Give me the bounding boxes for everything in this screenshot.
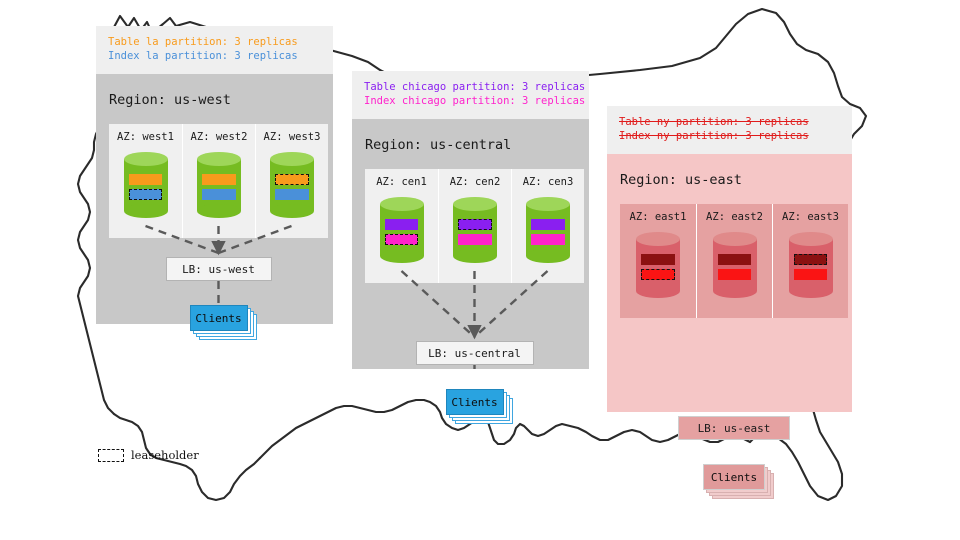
index-replica-bar bbox=[794, 269, 827, 280]
partition-banner-us-west: Table la partition: 3 replicasIndex la p… bbox=[96, 26, 333, 74]
cylinder-top bbox=[526, 197, 570, 211]
region-panel-us-west: Table la partition: 3 replicasIndex la p… bbox=[96, 26, 333, 324]
clients-stack-us-east[interactable]: Clients bbox=[703, 464, 775, 498]
cylinder-bottom bbox=[270, 204, 314, 218]
cylinder-bottom bbox=[789, 284, 833, 298]
az-cell-east3: AZ: east3 bbox=[772, 204, 848, 318]
cylinder-bottom bbox=[526, 249, 570, 263]
index-replica-bar bbox=[531, 234, 564, 245]
az-label: AZ: cen3 bbox=[523, 176, 574, 188]
partition-banner-us-central: Table chicago partition: 3 replicasIndex… bbox=[352, 71, 589, 119]
load-balancer-us-west[interactable]: LB: us-west bbox=[166, 257, 272, 281]
region-title-us-central: Region: us-central bbox=[365, 137, 511, 153]
dashed-rectangle-icon bbox=[98, 449, 124, 462]
cylinder-bottom bbox=[453, 249, 497, 263]
az-label: AZ: cen1 bbox=[376, 176, 427, 188]
index-replica-bar-leaseholder bbox=[385, 234, 418, 245]
database-cylinder-icon bbox=[713, 232, 757, 298]
cylinder-bottom bbox=[197, 204, 241, 218]
database-cylinder-icon bbox=[124, 152, 168, 218]
clients-stack-us-west[interactable]: Clients bbox=[190, 305, 258, 339]
az-label: AZ: east1 bbox=[630, 211, 687, 223]
diagram-canvas: Table la partition: 3 replicasIndex la p… bbox=[0, 0, 960, 540]
region-title-us-east: Region: us-east bbox=[620, 172, 742, 188]
table-replica-bar bbox=[718, 254, 751, 265]
database-cylinder-icon bbox=[526, 197, 570, 263]
cylinder-bottom bbox=[713, 284, 757, 298]
database-cylinder-icon bbox=[380, 197, 424, 263]
cylinder-top bbox=[636, 232, 680, 246]
table-replica-bar bbox=[129, 174, 162, 185]
region-panel-us-central: Table chicago partition: 3 replicasIndex… bbox=[352, 71, 589, 369]
az-cell-cen2: AZ: cen2 bbox=[438, 169, 511, 283]
az-strip-us-west: AZ: west1AZ: west2AZ: west3 bbox=[109, 124, 328, 238]
table-replica-bar bbox=[385, 219, 418, 230]
index-replica-bar-leaseholder bbox=[129, 189, 162, 200]
az-cell-east1: AZ: east1 bbox=[620, 204, 696, 318]
az-label: AZ: west1 bbox=[117, 131, 174, 143]
cylinder-bottom bbox=[380, 249, 424, 263]
cylinder-top bbox=[124, 152, 168, 166]
az-cell-west3: AZ: west3 bbox=[255, 124, 328, 238]
index-replica-bar bbox=[275, 189, 308, 200]
table-replica-bar-leaseholder bbox=[275, 174, 308, 185]
region-panel-us-east: Table ny partition: 3 replicasIndex ny p… bbox=[607, 106, 852, 412]
database-cylinder-icon bbox=[197, 152, 241, 218]
database-cylinder-icon bbox=[636, 232, 680, 298]
legend-label: leaseholder bbox=[131, 448, 199, 462]
clients-box-us-west[interactable]: Clients bbox=[190, 305, 248, 331]
table-replica-bar bbox=[531, 219, 564, 230]
az-label: AZ: cen2 bbox=[450, 176, 501, 188]
database-cylinder-icon bbox=[270, 152, 314, 218]
index-replica-bar-leaseholder bbox=[641, 269, 674, 280]
table-replica-bar-leaseholder bbox=[794, 254, 827, 265]
clients-stack-us-central[interactable]: Clients bbox=[446, 389, 514, 423]
partition-banner-us-east: Table ny partition: 3 replicasIndex ny p… bbox=[607, 106, 852, 154]
index-replica-bar bbox=[202, 189, 235, 200]
az-cell-west1: AZ: west1 bbox=[109, 124, 182, 238]
region-title-us-west: Region: us-west bbox=[109, 92, 231, 108]
az-label: AZ: west3 bbox=[264, 131, 321, 143]
az-label: AZ: west2 bbox=[191, 131, 248, 143]
clients-box-us-central[interactable]: Clients bbox=[446, 389, 504, 415]
table-replica-bar-leaseholder bbox=[458, 219, 491, 230]
az-strip-us-east: AZ: east1AZ: east2AZ: east3 bbox=[620, 204, 848, 318]
legend: leaseholder bbox=[98, 448, 199, 462]
cylinder-top bbox=[380, 197, 424, 211]
az-cell-cen1: AZ: cen1 bbox=[365, 169, 438, 283]
az-strip-us-central: AZ: cen1AZ: cen2AZ: cen3 bbox=[365, 169, 584, 283]
database-cylinder-icon bbox=[789, 232, 833, 298]
table-replica-bar bbox=[202, 174, 235, 185]
cylinder-top bbox=[789, 232, 833, 246]
clients-box-us-east[interactable]: Clients bbox=[703, 464, 765, 490]
table-partition-label-us-west: Table la partition: 3 replicas bbox=[108, 35, 321, 49]
cylinder-top bbox=[197, 152, 241, 166]
database-cylinder-icon bbox=[453, 197, 497, 263]
cylinder-top bbox=[713, 232, 757, 246]
index-partition-label-us-west: Index la partition: 3 replicas bbox=[108, 49, 321, 63]
az-label: AZ: east3 bbox=[782, 211, 839, 223]
cylinder-bottom bbox=[636, 284, 680, 298]
cylinder-top bbox=[453, 197, 497, 211]
cylinder-bottom bbox=[124, 204, 168, 218]
az-cell-cen3: AZ: cen3 bbox=[511, 169, 584, 283]
load-balancer-us-east[interactable]: LB: us-east bbox=[678, 416, 790, 440]
cylinder-top bbox=[270, 152, 314, 166]
index-replica-bar bbox=[718, 269, 751, 280]
table-partition-label-us-east: Table ny partition: 3 replicas bbox=[619, 115, 840, 129]
az-cell-east2: AZ: east2 bbox=[696, 204, 772, 318]
index-partition-label-us-east: Index ny partition: 3 replicas bbox=[619, 129, 840, 143]
load-balancer-us-central[interactable]: LB: us-central bbox=[416, 341, 534, 365]
index-partition-label-us-central: Index chicago partition: 3 replicas bbox=[364, 94, 577, 108]
index-replica-bar bbox=[458, 234, 491, 245]
az-cell-west2: AZ: west2 bbox=[182, 124, 255, 238]
az-label: AZ: east2 bbox=[706, 211, 763, 223]
table-partition-label-us-central: Table chicago partition: 3 replicas bbox=[364, 80, 577, 94]
table-replica-bar bbox=[641, 254, 674, 265]
